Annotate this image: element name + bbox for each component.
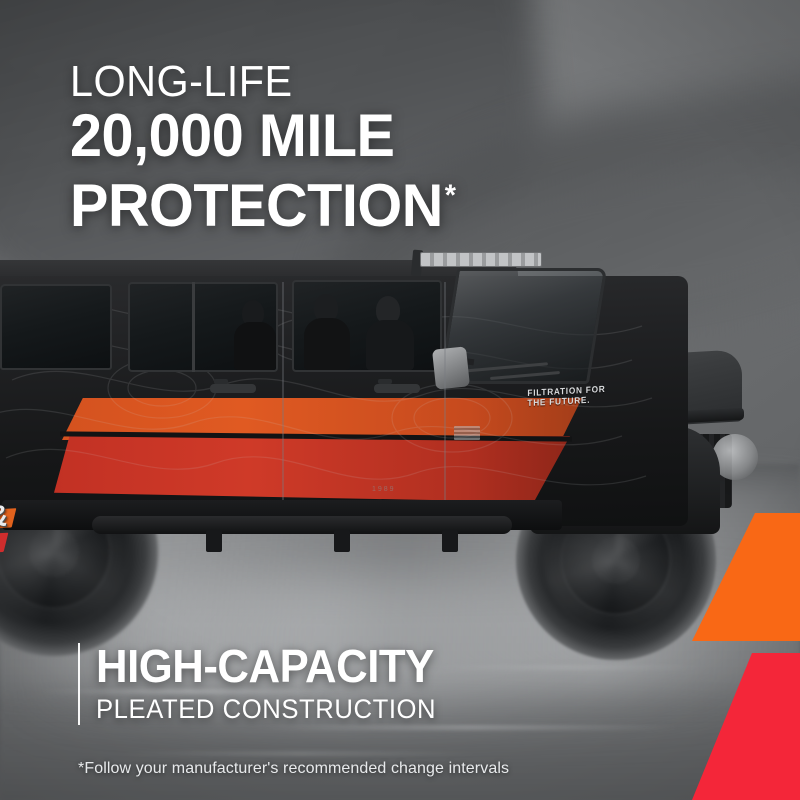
- headline-block: LONG-LIFE 20,000 MILE PROTECTION*: [70, 58, 710, 236]
- headline-footnote-marker: *: [445, 179, 456, 212]
- subhead-secondary: PLEATED CONSTRUCTION: [96, 693, 436, 725]
- occupant-driver-body: [366, 320, 414, 370]
- hood-decal: FILTRATION FOR THE FUTURE.: [527, 384, 605, 408]
- kn-logo-wordmark: K&N.: [0, 503, 7, 559]
- ad-canvas: 1989 FILTRATION FOR THE FUTURE. K&N. LON…: [0, 0, 800, 800]
- occupant-passenger-body: [304, 318, 350, 370]
- door-seam-rear: [282, 282, 284, 512]
- subhead-block: HIGH-CAPACITY PLEATED CONSTRUCTION: [78, 643, 454, 725]
- rock-rail-step: [334, 530, 350, 552]
- kn-logo: K&N.: [0, 502, 58, 576]
- rock-rail-step: [442, 530, 458, 552]
- subhead-vertical-rule: [78, 643, 80, 725]
- subhead-main: HIGH-CAPACITY: [96, 643, 436, 689]
- headline-line-2-text: PROTECTION: [70, 172, 443, 239]
- body-micro-text: 1989: [372, 486, 396, 493]
- door-handle-front: [374, 384, 420, 393]
- window-rear: [0, 284, 112, 370]
- side-mirror: [432, 346, 470, 389]
- door-seam-front: [444, 282, 446, 514]
- headline-line-2: PROTECTION*: [70, 166, 684, 236]
- headline-line-1: 20,000 MILE: [70, 106, 684, 166]
- window-divider: [192, 282, 195, 372]
- disclaimer-text: *Follow your manufacturer's recommended …: [78, 760, 509, 778]
- rock-rail-step: [206, 530, 222, 552]
- vehicle-stripe-red: [54, 436, 570, 502]
- vehicle-jeep-wrangler: 1989 FILTRATION FOR THE FUTURE. K&N.: [0, 238, 762, 658]
- roof-light-bar: [420, 252, 542, 267]
- flag-decal: [454, 426, 480, 440]
- door-handle-rear: [210, 384, 256, 393]
- subhead-text-group: HIGH-CAPACITY PLEATED CONSTRUCTION: [96, 643, 454, 725]
- headline-kicker: LONG-LIFE: [70, 58, 672, 106]
- occupant-rear-body: [234, 322, 276, 370]
